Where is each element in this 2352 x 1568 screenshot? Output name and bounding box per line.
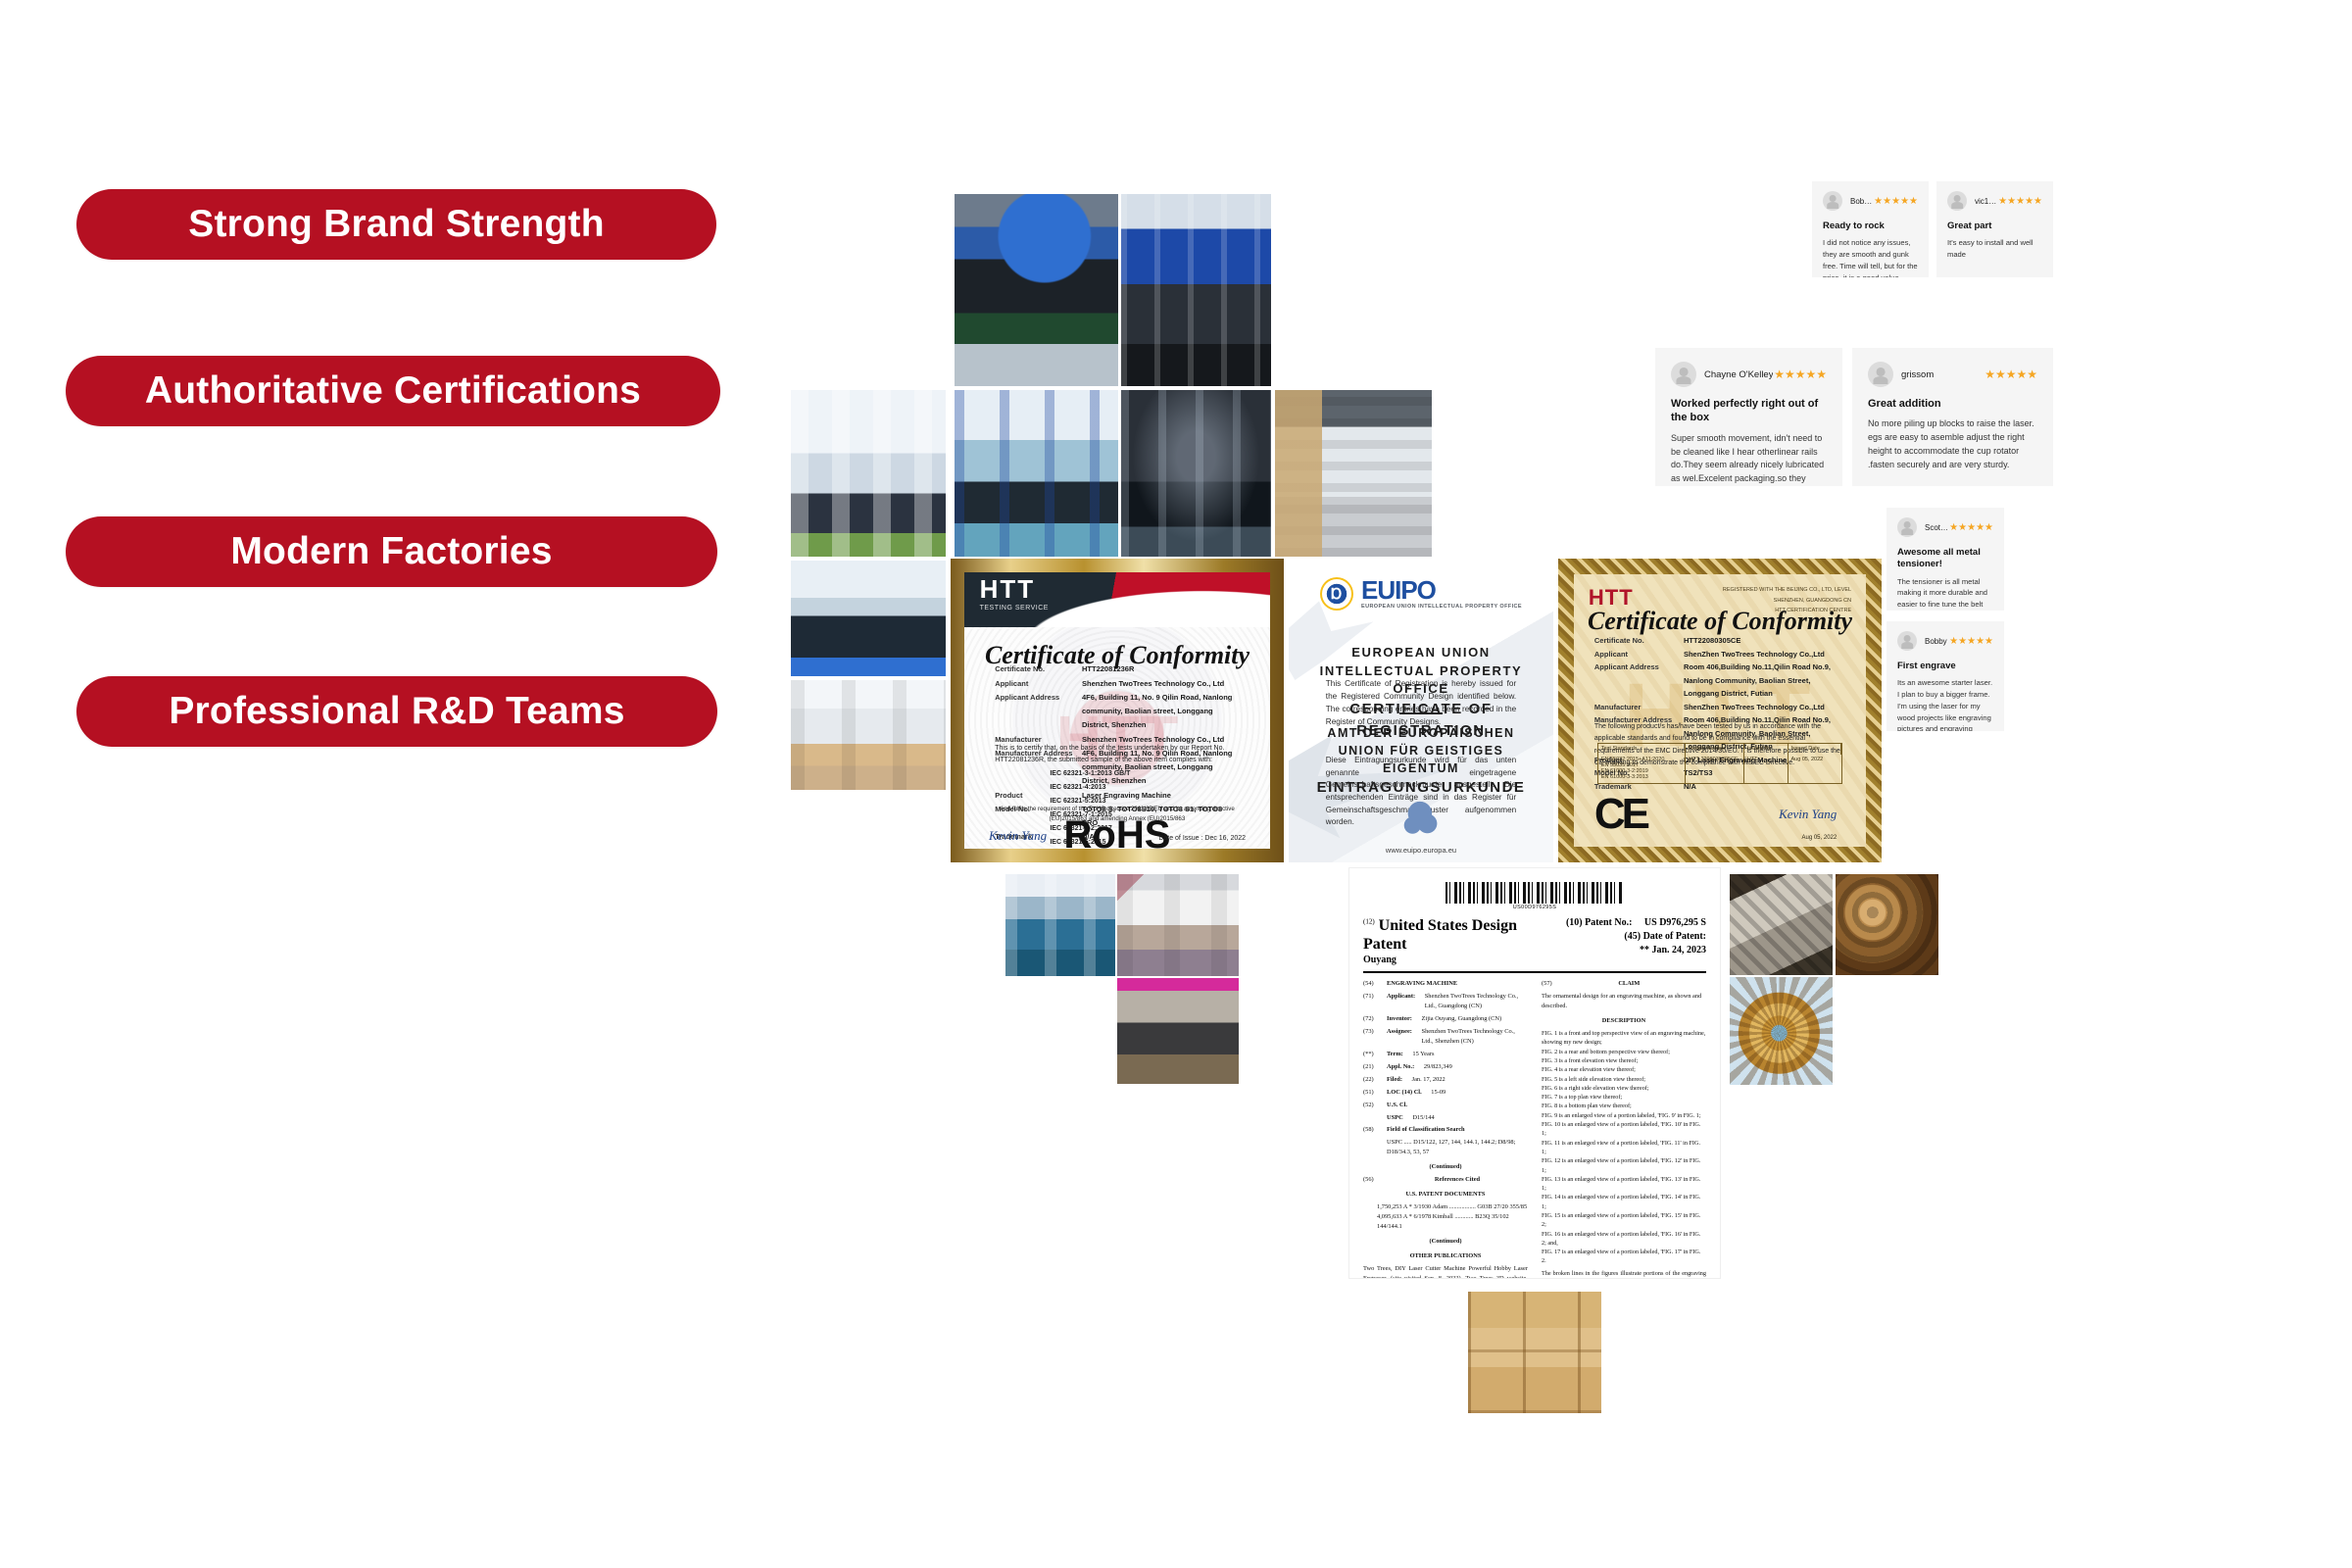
patent-tag: (72) xyxy=(1363,1014,1383,1024)
rohs-issue-date: Date of Issue : Dec 16, 2022 xyxy=(1158,835,1246,842)
patent-figure: FIG. 4 is a rear elevation view thereof; xyxy=(1542,1065,1706,1074)
patent-tag: (**) xyxy=(1363,1050,1383,1059)
feature-badge-list: Strong Brand Strength Authoritative Cert… xyxy=(0,0,745,1568)
ce-table-header: Report Number xyxy=(1686,744,1744,755)
patent-value: 15 Years xyxy=(1412,1050,1434,1059)
ce-table-header: Test Standards xyxy=(1598,744,1686,755)
ce-key: Certificate No. xyxy=(1594,634,1678,648)
avatar xyxy=(1897,517,1917,537)
patent-tag: (73) xyxy=(1363,1027,1383,1047)
patent-label: Term: xyxy=(1387,1050,1403,1059)
star-rating-icon: ★★★★★ xyxy=(1998,196,2042,207)
ce-table-cell: HTT-2208030305CE xyxy=(1686,755,1744,783)
patent-tag: (71) xyxy=(1363,992,1383,1011)
patent-label: Filed: xyxy=(1387,1075,1402,1085)
photo-engraved-metal-plate xyxy=(1730,874,1833,975)
patent-figure: FIG. 8 is a bottom plan view thereof; xyxy=(1542,1102,1706,1110)
photo-engraved-wood-face xyxy=(1836,874,1938,975)
rohs-key: Applicant Address xyxy=(995,691,1076,733)
ce-date: Aug 05, 2022 xyxy=(1802,835,1837,841)
review-body: Super smooth movement, idn't need to be … xyxy=(1671,432,1827,486)
patent-doc-title: United States Design Patent xyxy=(1363,917,1517,953)
review-author: Chayne O'Kelley xyxy=(1704,369,1773,380)
patent-figure: FIG. 17 is an enlarged view of a portion… xyxy=(1542,1248,1706,1266)
patent-value: Zijia Ouyang, Guangdong (CN) xyxy=(1422,1014,1502,1024)
patent-figure: FIG. 10 is an enlarged view of a portion… xyxy=(1542,1120,1706,1139)
patent-tag: (52) xyxy=(1363,1101,1383,1110)
patent-label: USPC xyxy=(1387,1113,1403,1123)
ce-key: Manufacturer xyxy=(1594,701,1678,714)
avatar xyxy=(1671,362,1696,387)
patent-value: Jan. 17, 2022 xyxy=(1412,1075,1445,1085)
review-body: Its an awesome starter laser. I plan to … xyxy=(1897,677,1993,731)
badge-modern-factories[interactable]: Modern Factories xyxy=(66,516,717,587)
ce-key: Applicant Address xyxy=(1594,661,1678,701)
patent-label: LOC (14) Cl. xyxy=(1387,1088,1422,1098)
patent-figure: FIG. 7 is a top plan view thereof; xyxy=(1542,1093,1706,1102)
photo-office-open-plan xyxy=(791,390,946,557)
euipo-logo-sub: EUROPEAN UNION INTELLECTUAL PROPERTY OFF… xyxy=(1361,605,1522,611)
patent-claim-tag: (57) xyxy=(1542,979,1552,989)
patent-figure: FIG. 1 is a front and top perspective vi… xyxy=(1542,1029,1706,1048)
review-card-chayne-okelley[interactable]: Chayne O'Kelley ★★★★★ Worked perfectly r… xyxy=(1655,348,1842,486)
patent-label: Inventor: xyxy=(1387,1014,1412,1024)
patent-us-doc: 1,750,253 A * 3/1930 Adam ..............… xyxy=(1363,1202,1528,1212)
barcode-icon xyxy=(1445,882,1624,904)
patent-figure: FIG. 13 is an enlarged view of a portion… xyxy=(1542,1175,1706,1194)
euipo-wordmark: EUIPO EUROPEAN UNION INTELLECTUAL PROPER… xyxy=(1361,577,1522,611)
ce-key: Applicant xyxy=(1594,648,1678,661)
patent-figure: FIG. 15 is an enlarged view of a portion… xyxy=(1542,1211,1706,1230)
patent-continued: (Continued) xyxy=(1363,1162,1528,1172)
htt-logo-icon: HTT TESTING SERVICE xyxy=(980,574,1049,612)
ce-table-cell: HTT xyxy=(1744,755,1788,783)
patent-value: D15/144 xyxy=(1412,1113,1434,1123)
photo-expo-booth-crowd xyxy=(1117,874,1239,976)
patent-value: USPC ..... D15/122, 127, 144, 144.1, 144… xyxy=(1363,1138,1528,1157)
rohs-paragraph: This is to certify that, on the basis of… xyxy=(995,743,1240,767)
review-title: Awesome all metal tensioner! xyxy=(1897,547,1993,571)
rohs-value: HTT22081236R xyxy=(1082,662,1240,676)
ce-signature: Kevin Yang xyxy=(1779,807,1837,822)
patent-value: 29/823,349 xyxy=(1424,1062,1452,1072)
rohs-value: Shenzhen TwoTrees Technology Co., Ltd xyxy=(1082,677,1240,691)
star-rating-icon: ★★★★★ xyxy=(1874,196,1918,207)
photo-warehouse-pallets xyxy=(1275,390,1432,557)
rohs-value: 4F6, Building 11, No. 9 Qilin Road, Nanl… xyxy=(1082,691,1240,733)
patent-label: ENGRAVING MACHINE xyxy=(1387,979,1457,989)
review-title: First engrave xyxy=(1897,661,1993,672)
review-title: Ready to rock xyxy=(1823,220,1918,232)
review-title: Great part xyxy=(1947,220,2042,232)
review-author: Scott McNabb xyxy=(1925,523,1949,532)
patent-figure: FIG. 6 is a right side elevation view th… xyxy=(1542,1084,1706,1093)
patent-figure: FIG. 14 is an enlarged view of a portion… xyxy=(1542,1193,1706,1211)
patent-right-column: (57) CLAIM The ornamental design for an … xyxy=(1542,979,1706,1278)
badge-professional-rd-teams[interactable]: Professional R&D Teams xyxy=(76,676,717,747)
patent-date-label: (45) Date of Patent: xyxy=(1624,930,1706,944)
patent-value: Shenzhen TwoTrees Technology Co., Ltd., … xyxy=(1422,1027,1528,1047)
euipo-divider xyxy=(1399,712,1442,714)
review-body: I did not notice any issues, they are sm… xyxy=(1823,237,1918,277)
review-author: Bob saget xyxy=(1850,197,1874,206)
review-author: grissom xyxy=(1901,369,1934,380)
patent-other-pub: Two Trees, DIY Laser Cutter Machine Powe… xyxy=(1363,1264,1528,1278)
avatar xyxy=(1897,631,1917,651)
barcode-text: US00D976295S xyxy=(1363,905,1706,910)
patent-label: Assignee: xyxy=(1387,1027,1412,1047)
euipo-logo: Ɒ EUIPO EUROPEAN UNION INTELLECTUAL PROP… xyxy=(1289,577,1553,611)
page-root: Strong Brand Strength Authoritative Cert… xyxy=(0,0,2352,1568)
review-card-bobby[interactable]: Bobby ★★★★★ First engrave Its an awesome… xyxy=(1886,621,2004,731)
euipo-star-circle-icon: Ɒ xyxy=(1320,577,1353,611)
review-author: Bobby xyxy=(1925,637,1947,646)
patent-tag: (22) xyxy=(1363,1075,1383,1085)
photo-expo-booth-demo xyxy=(1005,874,1115,976)
patent-figure: FIG. 11 is an enlarged view of a portion… xyxy=(1542,1139,1706,1157)
ce-value: ShenZhen TwoTrees Technology Co.,Ltd xyxy=(1684,701,1845,714)
photo-expo-booth-pink xyxy=(1117,978,1239,1084)
patent-value: 15-09 xyxy=(1431,1088,1445,1098)
photo-storage-rack xyxy=(1121,390,1271,557)
design-patent-document[interactable]: US00D976295S (12) United States Design P… xyxy=(1348,867,1721,1279)
patent-figure: FIG. 16 is an enlarged view of a portion… xyxy=(1542,1230,1706,1249)
patent-figure: FIG. 12 is an enlarged view of a portion… xyxy=(1542,1156,1706,1175)
patent-us-docs-title: U.S. PATENT DOCUMENTS xyxy=(1363,1190,1528,1200)
photo-wood-wall-panel xyxy=(1468,1292,1601,1413)
rohs-key: Certificate No. xyxy=(995,662,1076,676)
patent-figure-list: FIG. 1 is a front and top perspective vi… xyxy=(1542,1029,1706,1266)
review-body: It's easy to install and well made xyxy=(1947,237,2042,261)
review-card-scott-mcnabb[interactable]: Scott McNabb ★★★★★ Awesome all metal ten… xyxy=(1886,508,2004,611)
photo-worker-stacking xyxy=(791,561,946,676)
rohs-header-band: HTT TESTING SERVICE xyxy=(964,572,1270,633)
patent-left-column: (54)ENGRAVING MACHINE (71)Applicant: She… xyxy=(1363,979,1528,1278)
review-title: Great addition xyxy=(1868,397,2037,411)
review-card-grissom[interactable]: grissom ★★★★★ Great addition No more pil… xyxy=(1852,348,2053,486)
certificate-euipo[interactable]: Ɒ EUIPO EUROPEAN UNION INTELLECTUAL PROP… xyxy=(1289,559,1553,862)
patent-tag: (21) xyxy=(1363,1062,1383,1072)
patent-no: US D976,295 S xyxy=(1644,916,1706,930)
ce-value: Room 406,Building No.11,Qilin Road No.9,… xyxy=(1684,661,1845,701)
badge-label: Professional R&D Teams xyxy=(169,690,624,733)
ce-value: ShenZhen TwoTrees Technology Co.,Ltd xyxy=(1684,648,1845,661)
ce-header-line: SHENZHEN, GUANGDONG CN xyxy=(1723,596,1851,606)
certificate-rohs[interactable]: HTT TESTING SERVICE HTT Certificate of C… xyxy=(951,559,1284,862)
patent-figure: FIG. 5 is a left side elevation view the… xyxy=(1542,1075,1706,1084)
review-author: vic1959 xyxy=(1975,197,1998,206)
star-rating-icon: ★★★★★ xyxy=(1774,367,1827,381)
ce-value: HTT22080305CE xyxy=(1684,634,1845,648)
patent-figure: FIG. 2 is a rear and bottom perspective … xyxy=(1542,1048,1706,1056)
badge-label: Modern Factories xyxy=(230,530,552,573)
badge-label: Authoritative Certifications xyxy=(145,369,641,413)
photo-production-line xyxy=(1121,194,1271,386)
review-body: No more piling up blocks to raise the la… xyxy=(1868,417,2037,472)
ce-title: Certificate of Conformity xyxy=(1574,607,1866,636)
patent-label: Appl. No.: xyxy=(1387,1062,1414,1072)
patent-continued: (Continued) xyxy=(1363,1237,1528,1247)
star-rating-icon: ★★★★★ xyxy=(1949,636,1993,647)
credentials-collage: HTT TESTING SERVICE HTT Certificate of C… xyxy=(764,167,2332,1470)
patent-other-pub-title: OTHER PUBLICATIONS xyxy=(1363,1251,1528,1261)
patent-claim-text: The ornamental design for an engraving m… xyxy=(1542,992,1706,1011)
avatar xyxy=(1947,191,1967,211)
europe-map-icon xyxy=(1395,796,1447,838)
patent-kind-code: (12) xyxy=(1363,918,1375,926)
patent-divider xyxy=(1363,971,1706,973)
patent-label: Applicant: xyxy=(1387,992,1415,1011)
rohs-standard: IEC 62321-4:2013 xyxy=(1050,781,1233,795)
badge-authoritative-certifications[interactable]: Authoritative Certifications xyxy=(66,356,720,426)
patent-inventor-surname: Ouyang xyxy=(1363,955,1554,966)
photo-assembly-worker xyxy=(955,194,1118,386)
patent-value: Shenzhen TwoTrees Technology Co., Ltd., … xyxy=(1425,992,1528,1011)
avatar xyxy=(1868,362,1893,387)
patent-figure: FIG. 3 is a front elevation view thereof… xyxy=(1542,1056,1706,1065)
ce-table-header: Issued Date xyxy=(1788,744,1842,755)
patent-references-title: References Cited xyxy=(1387,1175,1528,1185)
patent-broken-lines-note: The broken lines in the figures illustra… xyxy=(1542,1269,1706,1278)
rohs-key: Applicant xyxy=(995,677,1076,691)
badge-label: Strong Brand Strength xyxy=(188,203,605,246)
patent-description-title: DESCRIPTION xyxy=(1542,1016,1706,1026)
ce-header-line: REGISTERED WITH THE BEIJING CO., LTD, LE… xyxy=(1723,585,1851,595)
star-rating-icon: ★★★★★ xyxy=(1949,522,1993,533)
euipo-paragraph-en: This Certificate of Registration is here… xyxy=(1326,678,1516,728)
ce-table-cell: Aug 05, 2022 xyxy=(1788,755,1842,783)
rohs-signature: Kevin Yang xyxy=(989,828,1047,844)
patent-label: U.S. Cl. xyxy=(1387,1101,1407,1110)
ce-table-cell: EN 55032:2015+A11:2020 EN 55035:2017 EN … xyxy=(1598,755,1686,783)
patent-tag: (56) xyxy=(1363,1175,1383,1185)
patent-tag: (51) xyxy=(1363,1088,1383,1098)
review-card-vic1959[interactable]: vic1959 ★★★★★ Great part It's easy to in… xyxy=(1936,181,2053,277)
ce-test-table: Test Standards Report Number Issued By I… xyxy=(1597,743,1842,784)
certificate-ce[interactable]: HTT HTT REGISTERED WITH THE BEIJING CO.,… xyxy=(1558,559,1882,862)
patent-figure: FIG. 9 is an enlarged view of a portion … xyxy=(1542,1111,1706,1120)
avatar xyxy=(1823,191,1842,211)
rohs-standard: IEC 62321-3-1:2013 GB/T xyxy=(1050,767,1233,781)
patent-date: ** Jan. 24, 2023 xyxy=(1640,944,1706,957)
review-body: The tensioner is all metal making it mor… xyxy=(1897,576,1993,611)
patent-claim-title: CLAIM xyxy=(1552,979,1706,989)
review-title: Worked perfectly right out of the box xyxy=(1671,397,1827,425)
patent-no-label: (10) Patent No.: xyxy=(1566,916,1632,930)
review-card-bob-saget[interactable]: Bob saget ★★★★★ Ready to rock I did not … xyxy=(1812,181,1929,277)
photo-showroom xyxy=(791,680,946,790)
euipo-url: www.euipo.europa.eu xyxy=(1289,846,1553,855)
photo-engraved-mandala xyxy=(1730,977,1833,1085)
ce-table-header: Issued By xyxy=(1744,744,1788,755)
patent-header: (12) United States Design Patent Ouyang … xyxy=(1363,916,1706,966)
ce-mark: CE xyxy=(1594,790,1646,839)
patent-tag: (54) xyxy=(1363,979,1383,989)
patent-label: Field of Classification Search xyxy=(1387,1125,1465,1135)
patent-us-doc: 4,095,633 A * 6/1978 Kimball ...........… xyxy=(1363,1212,1528,1232)
star-rating-icon: ★★★★★ xyxy=(1984,367,2037,381)
patent-tag: (58) xyxy=(1363,1125,1383,1135)
badge-strong-brand-strength[interactable]: Strong Brand Strength xyxy=(76,189,716,260)
photo-workshop-aisle xyxy=(955,390,1118,557)
